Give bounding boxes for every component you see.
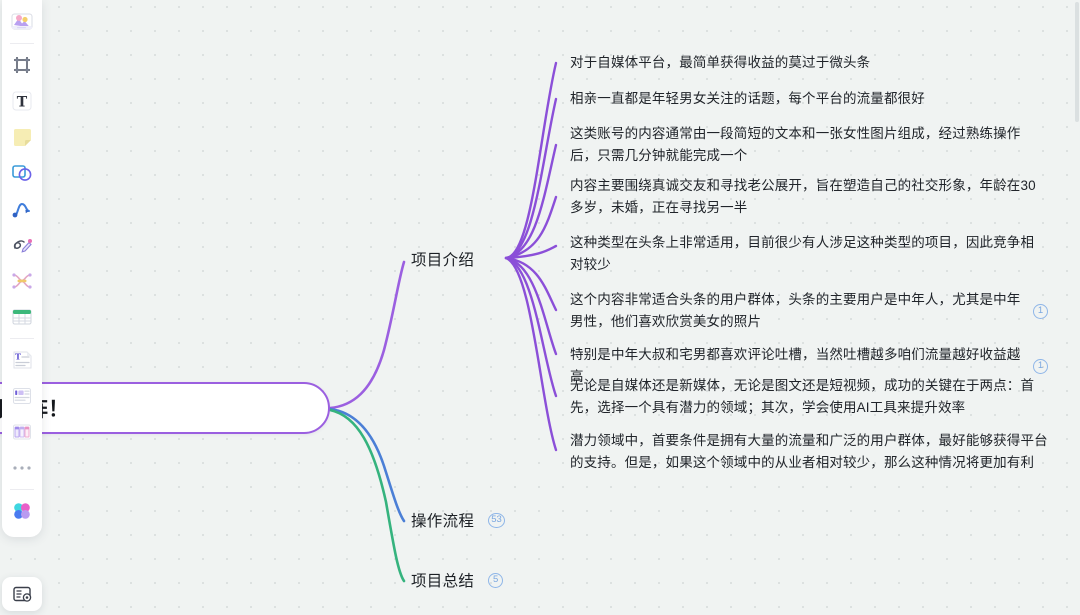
topic-badge-3[interactable]: 5 xyxy=(488,573,503,588)
leaf-text-9: 潜力领域中，首要条件是拥有大量的流量和广泛的用户群体，最好能够获得平台的支持。但… xyxy=(570,430,1048,474)
root-node[interactable]: ，小白轻松日入200+可矩阵！ xyxy=(0,382,330,434)
topic-node-1[interactable]: 项目介绍 xyxy=(411,248,474,270)
leaf-node-5[interactable]: 这种类型在头条上非常适用，目前很少有人涉足这种类型的项目，因此竞争相对较少 xyxy=(570,232,1045,276)
frame-icon[interactable] xyxy=(5,47,39,83)
topic-label-2: 操作流程 xyxy=(411,509,474,531)
svg-text:T: T xyxy=(17,95,28,111)
sticky-note-icon[interactable] xyxy=(5,119,39,155)
left-toolbar: T xyxy=(2,0,42,537)
leaf-text-3: 这类账号的内容通常由一段简短的文本和一张女性图片组成，经过熟练操作后，只需几分钟… xyxy=(570,123,1045,167)
edge-topic1-leaf-1 xyxy=(506,63,556,258)
leaf-text-4: 内容主要围绕真诚交友和寻找老公展开，旨在塑造自己的社交形象，年龄在30多岁，未婚… xyxy=(570,175,1048,219)
shapes-icon[interactable] xyxy=(5,155,39,191)
edge-topic1-leaf-9 xyxy=(506,258,556,450)
edge-topic1-leaf-7 xyxy=(506,258,556,354)
topic-badge-2[interactable]: 53 xyxy=(488,513,505,528)
color-palette-icon[interactable] xyxy=(5,493,39,529)
topic-node-3[interactable]: 项目总结 5 xyxy=(411,569,503,591)
leaf-text-5: 这种类型在头条上非常适用，目前很少有人涉足这种类型的项目，因此竞争相对较少 xyxy=(570,232,1045,276)
more-dots-icon[interactable] xyxy=(5,450,39,486)
image-stack-icon[interactable] xyxy=(5,4,39,40)
left-toolbar-shell: T xyxy=(0,0,44,615)
svg-text:T: T xyxy=(15,352,21,362)
presentation-settings-icon[interactable] xyxy=(2,577,42,611)
leaf-text-2: 相亲一直都是年轻男女关注的话题，每个平台的流量都很好 xyxy=(570,88,925,110)
leaf-node-4[interactable]: 内容主要围绕真诚交友和寻找老公展开，旨在塑造自己的社交形象，年龄在30多岁，未婚… xyxy=(570,175,1048,219)
toolbar-divider xyxy=(10,43,34,44)
edge-root-to-topic-1 xyxy=(330,262,404,408)
edge-root-to-topic-2 xyxy=(330,409,404,521)
leaf-badge-6[interactable]: 1 xyxy=(1033,304,1048,319)
whiteboard-app: ，小白轻松日入200+可矩阵！ 项目介绍 操作流程 53 项目总结 5 对于自媒… xyxy=(0,0,1080,615)
topic-label-1: 项目介绍 xyxy=(411,248,474,270)
card-icon[interactable] xyxy=(5,378,39,414)
table-icon[interactable] xyxy=(5,299,39,335)
leaf-node-1[interactable]: 对于自媒体平台，最简单获得收益的莫过于微头条 xyxy=(570,52,980,74)
leaf-text-8: 无论是自媒体还是新媒体，无论是图文还是短视频，成功的关键在于两点：首先，选择一个… xyxy=(570,375,1048,419)
leaf-node-8[interactable]: 无论是自媒体还是新媒体，无论是图文还是短视频，成功的关键在于两点：首先，选择一个… xyxy=(570,375,1048,419)
vertical-scrollbar[interactable] xyxy=(1075,2,1079,122)
topic-label-3: 项目总结 xyxy=(411,569,474,591)
leaf-badge-7[interactable]: 1 xyxy=(1033,359,1048,374)
toolbar-divider xyxy=(10,338,34,339)
toolbar-divider xyxy=(10,489,34,490)
kanban-icon[interactable] xyxy=(5,414,39,450)
mindmap-container: ，小白轻松日入200+可矩阵！ 项目介绍 操作流程 53 项目总结 5 对于自媒… xyxy=(0,0,1080,615)
text-icon[interactable]: T xyxy=(5,83,39,119)
leaf-node-9[interactable]: 潜力领域中，首要条件是拥有大量的流量和广泛的用户群体，最好能够获得平台的支持。但… xyxy=(570,430,1048,474)
leaf-text-1: 对于自媒体平台，最简单获得收益的莫过于微头条 xyxy=(570,52,870,74)
curve-line-icon[interactable] xyxy=(5,191,39,227)
topic-node-2[interactable]: 操作流程 53 xyxy=(411,509,505,531)
leaf-node-3[interactable]: 这类账号的内容通常由一段简短的文本和一张女性图片组成，经过熟练操作后，只需几分钟… xyxy=(570,123,1045,167)
mindmap-icon[interactable] xyxy=(5,263,39,299)
leaf-node-2[interactable]: 相亲一直都是年轻男女关注的话题，每个平台的流量都很好 xyxy=(570,88,1000,110)
leaf-node-6[interactable]: 这个内容非常适合头条的用户群体，头条的主要用户是中年人，尤其是中年男性，他们喜欢… xyxy=(570,289,1048,333)
leaf-text-6: 这个内容非常适合头条的用户群体，头条的主要用户是中年人，尤其是中年男性，他们喜欢… xyxy=(570,289,1023,333)
document-icon[interactable]: T xyxy=(5,342,39,378)
pen-scribble-icon[interactable] xyxy=(5,227,39,263)
